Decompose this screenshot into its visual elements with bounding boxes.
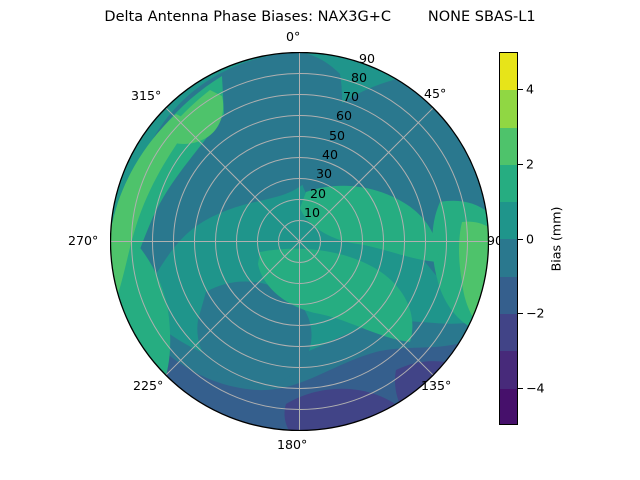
radial-label-10: 10 bbox=[304, 205, 320, 220]
colorbar-band-1 bbox=[500, 90, 517, 127]
azimuth-label-315: 315° bbox=[131, 88, 161, 103]
azimuth-label-270: 270° bbox=[68, 233, 98, 248]
colorbar-tick-label-4: −4 bbox=[526, 380, 545, 395]
polar-grid-spokes bbox=[111, 53, 489, 431]
radial-label-40: 40 bbox=[322, 147, 338, 162]
figure-title: Delta Antenna Phase Biases: NAX3G+C NONE… bbox=[0, 9, 640, 25]
azimuth-label-225: 225° bbox=[133, 378, 163, 393]
colorbar-tick-0 bbox=[518, 89, 523, 90]
colorbar-tick-3 bbox=[518, 313, 523, 314]
radial-label-60: 60 bbox=[336, 108, 352, 123]
colorbar-band-4 bbox=[500, 202, 517, 239]
colorbar-band-8 bbox=[500, 351, 517, 388]
radial-label-80: 80 bbox=[351, 70, 367, 85]
polar-plot-svg bbox=[110, 52, 489, 431]
azimuth-label-45: 45° bbox=[424, 86, 446, 101]
colorbar-tick-label-1: 2 bbox=[526, 156, 534, 171]
colorbar-band-3 bbox=[500, 165, 517, 202]
colorbar-tick-4 bbox=[518, 388, 523, 389]
azimuth-label-0: 0° bbox=[286, 29, 300, 44]
colorbar-tick-label-3: −2 bbox=[526, 306, 545, 321]
colorbar-band-6 bbox=[500, 277, 517, 314]
azimuth-label-180: 180° bbox=[277, 437, 307, 452]
colorbar-tick-1 bbox=[518, 164, 523, 165]
colorbar-band-2 bbox=[500, 128, 517, 165]
colorbar-band-5 bbox=[500, 239, 517, 276]
azimuth-label-135: 135° bbox=[421, 378, 451, 393]
radial-label-50: 50 bbox=[329, 128, 345, 143]
radial-label-30: 30 bbox=[316, 166, 332, 181]
colorbar-band-9 bbox=[500, 389, 517, 425]
radial-label-90: 90 bbox=[359, 51, 375, 66]
polar-axes bbox=[110, 52, 489, 431]
colorbar-tick-2 bbox=[518, 239, 523, 240]
radial-label-70: 70 bbox=[343, 89, 359, 104]
figure-canvas: Delta Antenna Phase Biases: NAX3G+C NONE… bbox=[0, 0, 640, 480]
radial-label-20: 20 bbox=[310, 186, 326, 201]
colorbar-band-0 bbox=[500, 53, 517, 90]
colorbar-gradient bbox=[499, 52, 518, 425]
colorbar-tick-label-2: 0 bbox=[526, 231, 534, 246]
colorbar-band-7 bbox=[500, 314, 517, 351]
colorbar-axis-label: Bias (mm) bbox=[549, 207, 564, 272]
colorbar: 420−2−4 bbox=[499, 52, 518, 425]
colorbar-tick-label-0: 4 bbox=[526, 82, 534, 97]
